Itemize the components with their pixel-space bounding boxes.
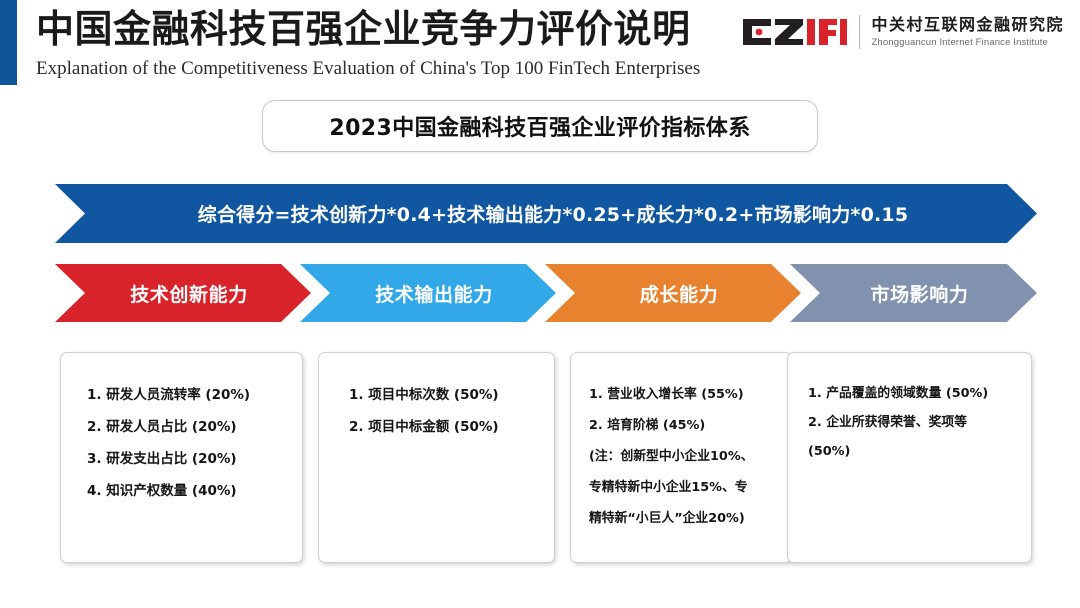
header-accent-bar — [0, 0, 17, 85]
indicator-card-innovation: 1. 研发人员流转率 (20%) 2. 研发人员占比 (20%) 3. 研发支出… — [60, 352, 303, 563]
indicator-note: 专精特新中小企业15%、专 — [585, 472, 777, 503]
indicator-note: (注：创新型中小企业10%、 — [585, 441, 777, 472]
indicator-item: 1. 研发人员流转率 (20%) — [75, 379, 288, 411]
indicator-card-growth: 1. 营业收入增长率 (55%) 2. 培育阶梯 (45%) (注：创新型中小企… — [570, 352, 792, 563]
logo-name-en: Zhongguancun Internet Finance Institute — [871, 36, 1064, 50]
framework-title-box: 2023中国金融科技百强企业评价指标体系 — [262, 100, 818, 152]
indicator-item: 1. 产品覆盖的领域数量 (50%) — [802, 379, 1017, 408]
page-title: 中国金融科技百强企业竞争力评价说明 — [36, 6, 700, 54]
indicator-card-market: 1. 产品覆盖的领域数量 (50%) 2. 企业所获得荣誉、奖项等 (50%) — [787, 352, 1032, 563]
indicator-card-output: 1. 项目中标次数 (50%) 2. 项目中标金额 (50%) — [318, 352, 555, 563]
pillar-chevron-market: 市场影响力 — [790, 264, 1037, 322]
czifi-logomark-icon — [741, 17, 849, 47]
framework-title-text: 2023中国金融科技百强企业评价指标体系 — [329, 110, 750, 142]
indicator-item: 3. 研发支出占比 (20%) — [75, 443, 288, 475]
pillar-label: 技术创新能力 — [118, 280, 248, 307]
pillar-chevron-output: 技术输出能力 — [300, 264, 556, 322]
indicator-item: 2. 研发人员占比 (20%) — [75, 411, 288, 443]
indicator-item: 2. 项目中标金额 (50%) — [333, 411, 540, 443]
indicator-item: 1. 项目中标次数 (50%) — [333, 379, 540, 411]
indicator-item: 4. 知识产权数量 (40%) — [75, 475, 288, 507]
logo-wordmark: 中关村互联网金融研究院 Zhongguancun Internet Financ… — [871, 15, 1064, 50]
header-text-group: 中国金融科技百强企业竞争力评价说明 Explanation of the Com… — [36, 6, 700, 82]
pillar-chevron-row: 技术创新能力 技术输出能力 成长能力 市场影响力 — [55, 264, 1037, 322]
logo-divider — [859, 15, 860, 49]
pillar-chevron-growth: 成长能力 — [545, 264, 801, 322]
institute-logo: 中关村互联网金融研究院 Zhongguancun Internet Financ… — [741, 9, 1064, 55]
indicator-item: (50%) — [802, 437, 1017, 466]
logo-name-cn: 中关村互联网金融研究院 — [871, 15, 1064, 35]
indicator-item: 2. 培育阶梯 (45%) — [585, 410, 777, 441]
pillar-label: 成长能力 — [628, 280, 718, 307]
score-formula-text: 综合得分=技术创新力*0.4+技术输出能力*0.25+成长力*0.2+市场影响力… — [184, 200, 909, 227]
pillar-label: 市场影响力 — [858, 280, 968, 307]
indicator-note: 精特新“小巨人”企业20%) — [585, 503, 777, 534]
pillar-label: 技术输出能力 — [363, 280, 493, 307]
indicator-card-row: 1. 研发人员流转率 (20%) 2. 研发人员占比 (20%) 3. 研发支出… — [60, 352, 1032, 563]
indicator-item: 1. 营业收入增长率 (55%) — [585, 379, 777, 410]
score-formula-banner: 综合得分=技术创新力*0.4+技术输出能力*0.25+成长力*0.2+市场影响力… — [55, 184, 1037, 243]
page-subtitle: Explanation of the Competitiveness Evalu… — [36, 56, 700, 82]
indicator-item: 2. 企业所获得荣誉、奖项等 — [802, 408, 1017, 437]
slide-header: 中国金融科技百强企业竞争力评价说明 Explanation of the Com… — [0, 0, 1080, 92]
pillar-chevron-innovation: 技术创新能力 — [55, 264, 311, 322]
